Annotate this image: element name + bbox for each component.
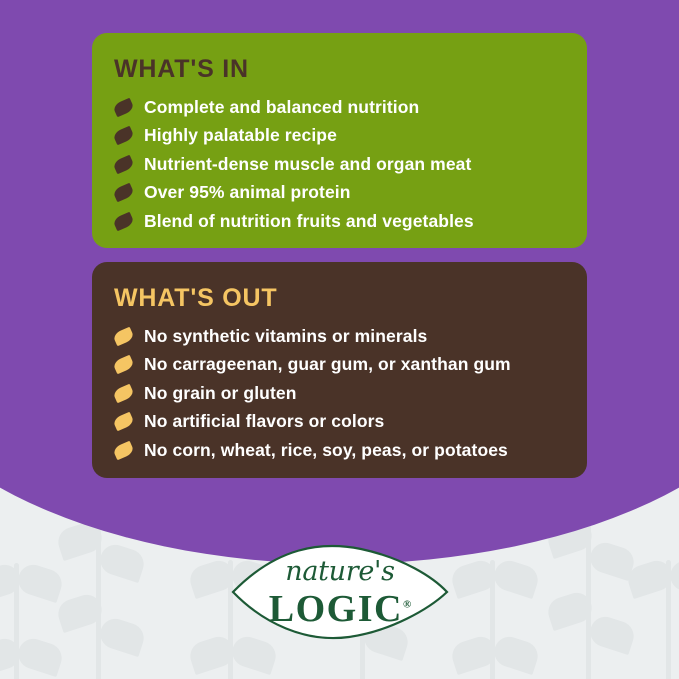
list-item: Complete and balanced nutrition [114, 93, 565, 122]
leaf-icon [112, 183, 135, 203]
leaf-icon [112, 211, 135, 231]
list-item-label: No synthetic vitamins or minerals [144, 328, 427, 346]
list-item: Blend of nutrition fruits and vegetables [114, 207, 565, 236]
leaf-icon [112, 440, 135, 460]
whats-out-card: WHAT'S OUT No synthetic vitamins or mine… [92, 262, 587, 478]
list-item-label: Blend of nutrition fruits and vegetables [144, 213, 474, 231]
list-item-label: Highly palatable recipe [144, 127, 337, 145]
sprout-leaf-right [96, 615, 147, 657]
leaf-icon [112, 326, 135, 346]
leaf-icon [112, 383, 135, 403]
leaf-badge-icon [231, 543, 449, 641]
list-item: No carrageenan, guar gum, or xanthan gum [114, 351, 565, 380]
leaf-icon [112, 154, 135, 174]
whats-out-list: No synthetic vitamins or minerals No car… [114, 322, 565, 465]
list-item: No grain or gluten [114, 379, 565, 408]
list-item: Over 95% animal protein [114, 179, 565, 208]
list-item-label: No corn, wheat, rice, soy, peas, or pota… [144, 442, 508, 460]
sprout-leaf-right [96, 541, 147, 583]
whats-in-title: WHAT'S IN [114, 55, 565, 84]
list-item-label: No artificial flavors or colors [144, 413, 384, 431]
whats-out-title: WHAT'S OUT [114, 284, 565, 313]
sprout-leaf-right [14, 561, 65, 603]
list-item-label: Nutrient-dense muscle and organ meat [144, 156, 471, 174]
list-item-label: No carrageenan, guar gum, or xanthan gum [144, 356, 511, 374]
sprout-leaf-right [586, 613, 637, 655]
brand-logo: nature's LOGIC® [231, 543, 449, 641]
list-item-label: No grain or gluten [144, 385, 297, 403]
sprout-leaf-right [490, 633, 541, 675]
list-item: Nutrient-dense muscle and organ meat [114, 150, 565, 179]
whats-in-list: Complete and balanced nutrition Highly p… [114, 93, 565, 236]
leaf-icon [112, 412, 135, 432]
list-item: No corn, wheat, rice, soy, peas, or pota… [114, 436, 565, 465]
product-infographic: WHAT'S IN Complete and balanced nutritio… [0, 0, 679, 679]
leaf-icon [112, 355, 135, 375]
list-item-label: Over 95% animal protein [144, 184, 351, 202]
list-item-label: Complete and balanced nutrition [144, 99, 419, 117]
list-item: No artificial flavors or colors [114, 408, 565, 437]
sprout-leaf-right [490, 557, 541, 599]
list-item: No synthetic vitamins or minerals [114, 322, 565, 351]
list-item: Highly palatable recipe [114, 122, 565, 151]
sprout-leaf-right [14, 635, 65, 677]
whats-in-card: WHAT'S IN Complete and balanced nutritio… [92, 33, 587, 248]
leaf-icon [112, 97, 135, 117]
leaf-icon [112, 126, 135, 146]
